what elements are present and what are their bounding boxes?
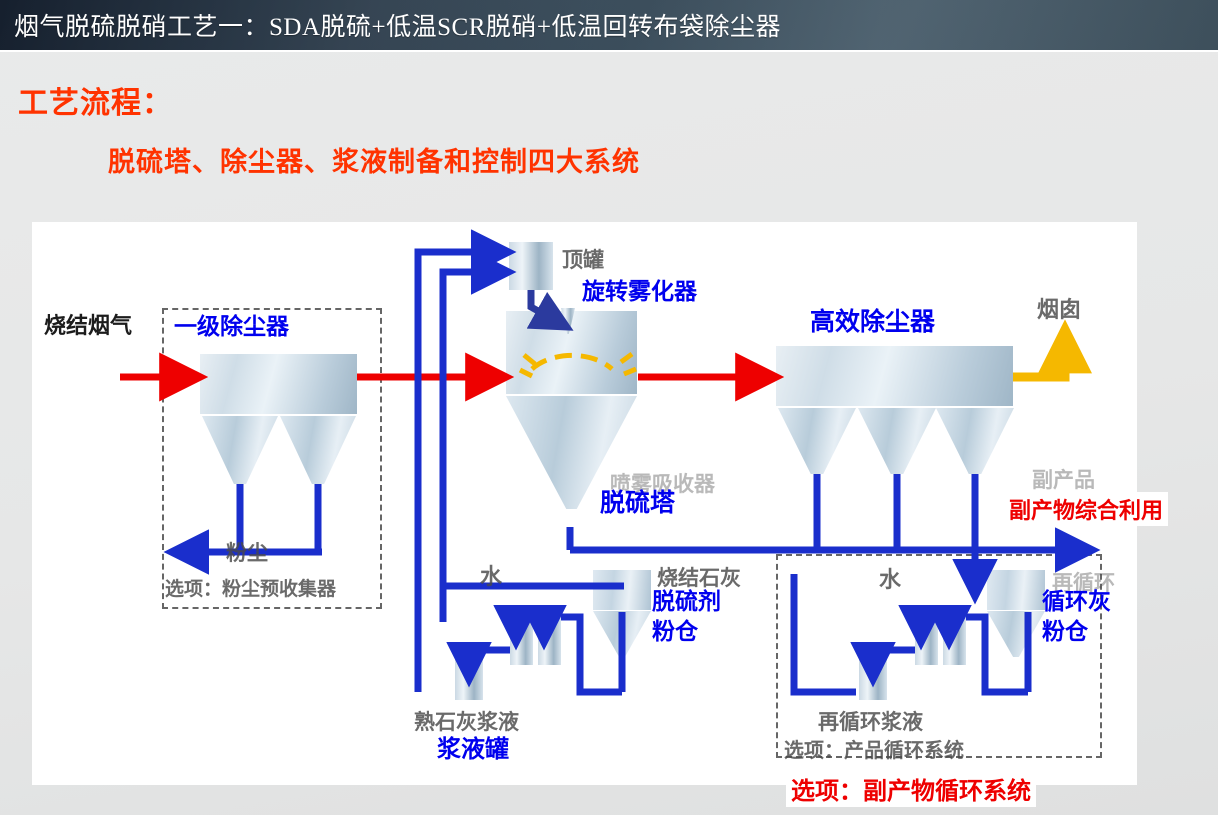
equipment-primary-dust-collector-body — [200, 354, 357, 416]
section-subheading-systems: 脱硫塔、除尘器、浆液制备和控制四大系统 — [108, 140, 640, 179]
section-heading-process-flow: 工艺流程： — [18, 78, 173, 122]
label-water-left: 水 — [480, 559, 502, 591]
flow-clean-gas-to-chimney — [1013, 332, 1065, 377]
label-option-byproduct-recycle: 选项：副产物循环系统 — [786, 770, 1036, 807]
label-recycle-slurry: 再循环浆液 — [818, 706, 923, 736]
title-bar: 烟气脱硫脱硝工艺一：SDA脱硫+低温SCR脱硝+低温回转布袋除尘器 — [0, 0, 1218, 52]
label-sintered-lime: 烧结石灰 — [657, 562, 741, 592]
label-desulfurization-tower: 脱硫塔 — [600, 489, 675, 517]
label-primary-dust-collector: 一级除尘器 — [174, 315, 289, 341]
label-inlet-gas: 烧结烟气 — [44, 308, 132, 340]
equipment-desulfurization-tower-body — [506, 311, 637, 396]
equipment-mix-tank-left-b — [538, 617, 561, 665]
label-desulfurizer-silo-line1: 脱硫剂 — [652, 590, 721, 616]
label-high-efficiency-collector: 高效除尘器 — [810, 308, 935, 336]
equipment-high-efficiency-collector-body — [776, 346, 1013, 408]
flow-slurry-to-top-tank — [418, 252, 506, 692]
equipment-mix-tank-left-a — [510, 617, 533, 665]
label-byproduct-utilization: 副产物综合利用 — [1004, 492, 1168, 526]
equipment-high-efficiency-collector-hopper-1 — [778, 408, 856, 474]
process-flow-diagram-panel: 烧结烟气 一级除尘器 粉尘 选项：粉尘预收集器 顶罐 旋转雾化器 喷雾吸收器 脱… — [32, 222, 1137, 785]
equipment-slurry-tank-left — [455, 647, 483, 700]
label-dust: 粉尘 — [226, 537, 268, 567]
label-water-right: 水 — [879, 562, 901, 594]
equipment-recycle-ash-silo-body — [987, 570, 1045, 611]
equipment-high-efficiency-collector-hopper-3 — [936, 408, 1014, 474]
equipment-desulfurizer-silo-hopper — [593, 611, 651, 657]
equipment-desulfurizer-silo-body — [593, 570, 651, 611]
label-chimney: 烟囱 — [1037, 292, 1081, 324]
label-recycle-ash-silo-line2: 粉仓 — [1042, 620, 1088, 646]
equipment-high-efficiency-collector-hopper-2 — [858, 408, 936, 474]
equipment-recycle-mix-tank-b — [943, 617, 966, 665]
page-title: 烟气脱硫脱硝工艺一：SDA脱硫+低温SCR脱硝+低温回转布袋除尘器 — [14, 7, 781, 43]
label-desulfurizer-silo-line2: 粉仓 — [652, 620, 698, 646]
label-top-tank: 顶罐 — [562, 244, 604, 274]
label-slaked-lime-slurry: 熟石灰浆液 — [414, 706, 519, 736]
label-rotary-atomizer: 旋转雾化器 — [582, 280, 697, 306]
equipment-top-tank-body — [509, 242, 553, 290]
equipment-recycle-mix-tank-a — [915, 617, 938, 665]
label-option-product-recycle: 选项：产品循环系统 — [784, 734, 964, 763]
label-byproduct-faint: 副产品 — [1032, 464, 1095, 494]
label-recycle-ash-silo-line1: 循环灰 — [1042, 590, 1111, 616]
label-option-pre-collector: 选项：粉尘预收集器 — [165, 574, 336, 601]
label-slurry-tank: 浆液罐 — [437, 736, 509, 763]
equipment-recycle-slurry-tank — [859, 647, 887, 700]
diagram-canvas: 烧结烟气 一级除尘器 粉尘 选项：粉尘预收集器 顶罐 旋转雾化器 喷雾吸收器 脱… — [32, 222, 1137, 785]
